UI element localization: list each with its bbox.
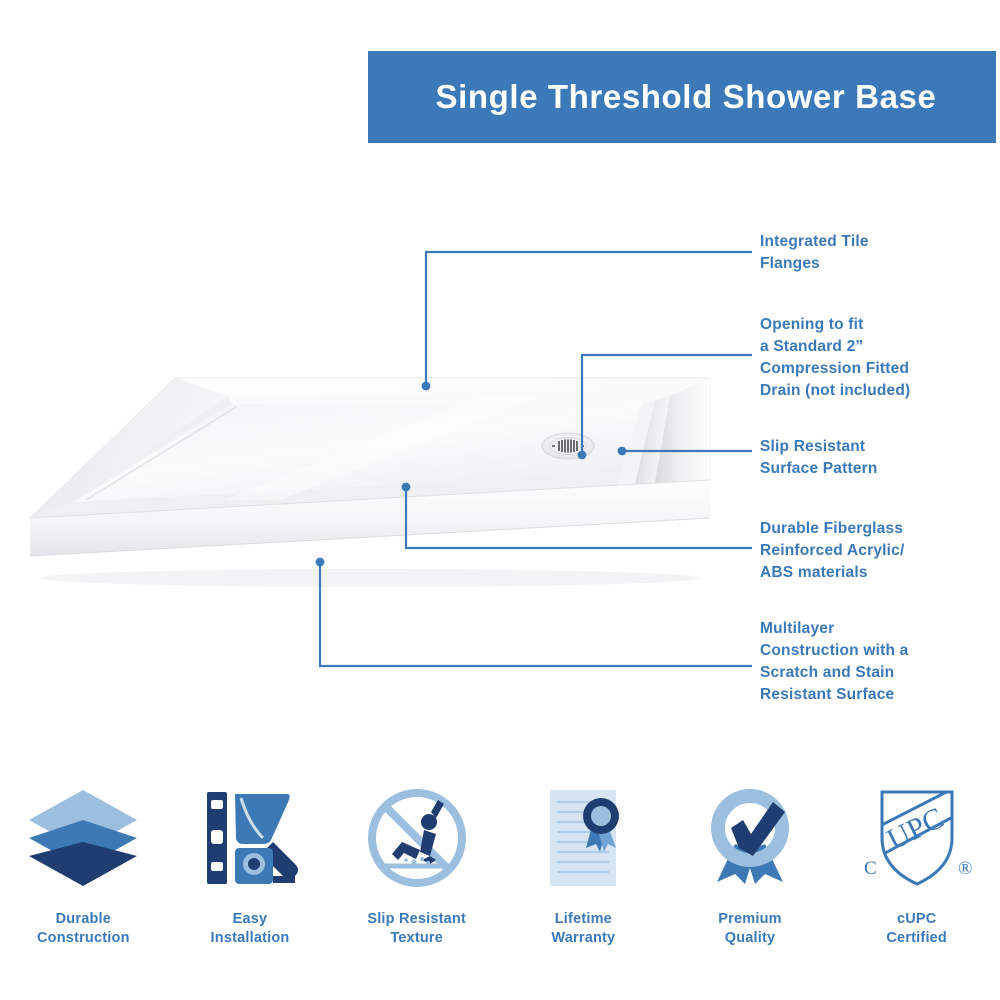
feature-icon-wrap [24,782,142,894]
callout-multilayer-construction: Multilayer Construction with a Scratch a… [760,618,975,706]
drain-grate [542,433,594,459]
caption-line: Easy [211,910,290,929]
callout-line: Drain (not included) [760,380,975,402]
ground-shadow [40,569,700,587]
callout-line: Durable Fiberglass [760,518,975,540]
callout-line: a Standard 2” [760,336,975,358]
feature-icon-wrap [524,782,642,894]
shower-base-svg [10,360,740,600]
callout-line: Integrated Tile [760,231,975,253]
feature-caption: Premium Quality [718,910,781,948]
feature-caption: Easy Installation [211,910,290,948]
feature-caption: cUPC Certified [886,910,947,948]
callout-line: Compression Fitted [760,358,975,380]
callout-line: ABS materials [760,562,975,584]
feature-caption: Durable Construction [37,910,130,948]
callout-line: Construction with a [760,640,975,662]
feature-caption: Lifetime Warranty [551,910,615,948]
caption-line: Certified [886,929,947,948]
caption-line: Texture [367,929,466,948]
product-illustration [10,360,740,600]
shield-registered-mark: ® [958,858,972,879]
callout-line: Opening to fit [760,314,975,336]
no-slip-icon [358,786,476,890]
feature-easy-installation: Easy Installation [167,782,334,982]
caption-line: Construction [37,929,130,948]
callout-integrated-tile-flanges: Integrated Tile Flanges [760,231,975,275]
feature-icon-wrap [191,782,309,894]
callout-line: Flanges [760,253,975,275]
drain-slots [559,440,577,453]
caption-line: Quality [718,929,781,948]
caption-line: Warranty [551,929,615,948]
check-rosette-icon [691,786,809,890]
feature-cupc-certified: UPC C ® cUPC Certified [833,782,1000,982]
infographic-canvas: Single Threshold Shower Base [0,0,1000,1000]
feature-lifetime-warranty: Lifetime Warranty [500,782,667,982]
caption-line: Slip Resistant [367,910,466,929]
layers-icon [24,786,142,890]
flange-back-bevel [228,396,670,404]
upc-shield-icon: UPC C ® [854,786,980,890]
seal-inner [591,806,611,826]
feature-premium-quality: Premium Quality [667,782,834,982]
shield-prefix-c: C [864,858,877,879]
title-banner: Single Threshold Shower Base [368,51,996,143]
callout-line: Scratch and Stain [760,662,975,684]
page-title: Single Threshold Shower Base [436,78,937,116]
feature-caption: Slip Resistant Texture [367,910,466,948]
callout-line: Surface Pattern [760,458,975,480]
callout-slip-resistant-surface-pattern: Slip Resistant Surface Pattern [760,436,975,480]
level-trowel-icon [191,786,309,890]
certificate-icon [524,786,642,890]
caption-line: Lifetime [551,910,615,929]
feature-slip-resistant-texture: Slip Resistant Texture [333,782,500,982]
feature-badge-row: Durable Construction [0,782,1000,982]
feature-icon-wrap [358,782,476,894]
feature-icon-wrap: UPC C ® [854,782,980,894]
caption-line: Installation [211,929,290,948]
feature-icon-wrap [691,782,809,894]
caption-line: cUPC [886,910,947,929]
callout-line: Multilayer [760,618,975,640]
callout-line: Resistant Surface [760,684,975,706]
callout-line: Reinforced Acrylic/ [760,540,975,562]
callout-durable-fiberglass: Durable Fiberglass Reinforced Acrylic/ A… [760,518,975,584]
feature-durable-construction: Durable Construction [0,782,167,982]
callout-line: Slip Resistant [760,436,975,458]
caption-line: Durable [37,910,130,929]
callout-drain-opening: Opening to fit a Standard 2” Compression… [760,314,975,402]
caption-line: Premium [718,910,781,929]
